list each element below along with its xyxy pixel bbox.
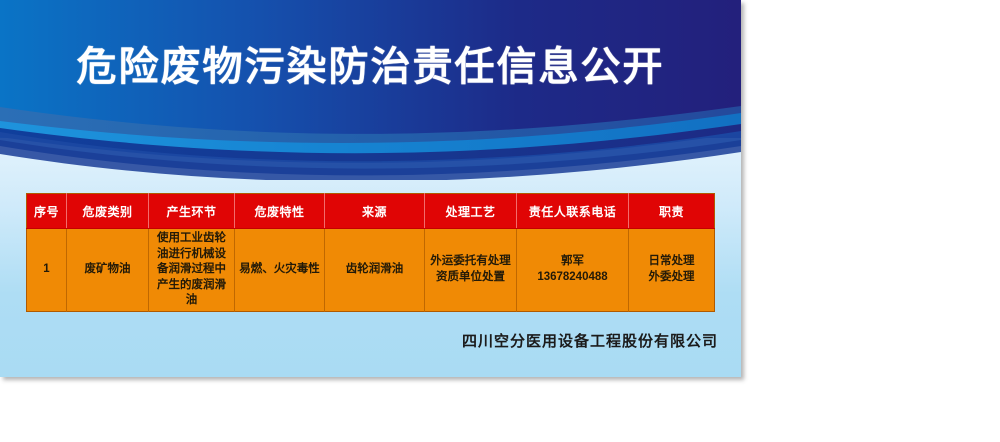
column-header-source: 来源 xyxy=(325,194,425,229)
cell-index: 1 xyxy=(27,229,67,312)
screenshot-root: 危险废物污染防治责任信息公开 序号 危废类别 产生 xyxy=(0,0,1000,442)
cell-duty: 日常处理 外委处理 xyxy=(629,229,715,312)
cell-source: 齿轮润滑油 xyxy=(325,229,425,312)
column-header-contact: 责任人联系电话 xyxy=(517,194,629,229)
hazardous-waste-information-poster: 危险废物污染防治责任信息公开 序号 危废类别 产生 xyxy=(0,0,741,377)
hazardous-waste-table: 序号 危废类别 产生环节 危废特性 来源 处理工艺 责任人联系电话 职责 1 废… xyxy=(26,193,715,312)
hazardous-waste-table-container: 序号 危废类别 产生环节 危废特性 来源 处理工艺 责任人联系电话 职责 1 废… xyxy=(26,193,714,312)
cell-contact: 郭军 13678240488 xyxy=(517,229,629,312)
duty-line-2: 外委处理 xyxy=(633,270,710,286)
column-header-category: 危废类别 xyxy=(67,194,149,229)
page-title: 危险废物污染防治责任信息公开 xyxy=(0,47,741,87)
column-header-index: 序号 xyxy=(27,194,67,229)
column-header-duty: 职责 xyxy=(629,194,715,229)
column-header-treatment: 处理工艺 xyxy=(425,194,517,229)
column-header-property: 危废特性 xyxy=(235,194,325,229)
table-header-row: 序号 危废类别 产生环节 危废特性 来源 处理工艺 责任人联系电话 职责 xyxy=(27,194,715,229)
company-name: 四川空分医用设备工程股份有限公司 xyxy=(0,330,718,351)
contact-name: 郭军 xyxy=(521,254,624,270)
cell-treatment-process: 外运委托有处理资质单位处置 xyxy=(425,229,517,312)
cell-category: 废矿物油 xyxy=(67,229,149,312)
cell-generation-stage: 使用工业齿轮油进行机械设备润滑过程中产生的废润滑油 xyxy=(149,229,235,312)
cell-hazard-property: 易燃、火灾毒性 xyxy=(235,229,325,312)
table-row: 1 废矿物油 使用工业齿轮油进行机械设备润滑过程中产生的废润滑油 易燃、火灾毒性… xyxy=(27,229,715,312)
duty-line-1: 日常处理 xyxy=(633,254,710,270)
contact-phone: 13678240488 xyxy=(521,270,624,286)
header-wave-decoration xyxy=(0,0,741,180)
column-header-stage: 产生环节 xyxy=(149,194,235,229)
